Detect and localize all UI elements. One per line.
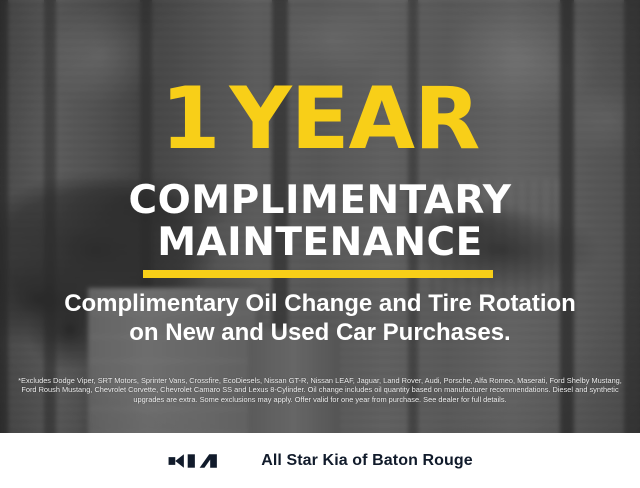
banner-footer: All Star Kia of Baton Rouge [0, 433, 640, 488]
headline-maintenance: MAINTENANCE [0, 222, 640, 264]
offer-subheading-line2: on New and Used Car Purchases. [24, 318, 616, 347]
disclaimer-text: *Excludes Dodge Viper, SRT Motors, Sprin… [14, 376, 626, 404]
offer-subheading-line1: Complimentary Oil Change and Tire Rotati… [24, 289, 616, 318]
banner-content: 1YEAR COMPLIMENTARY MAINTENANCE Complime… [0, 0, 640, 433]
yellow-divider-rule [143, 270, 493, 278]
headline-year-word: YEAR [230, 69, 480, 169]
kia-logo [167, 450, 239, 472]
headline-complimentary: COMPLIMENTARY [0, 180, 640, 222]
offer-subheading: Complimentary Oil Change and Tire Rotati… [24, 289, 616, 347]
headline-number: 1 [161, 69, 220, 169]
headline-one-year: 1YEAR [0, 76, 640, 162]
promo-banner: 1YEAR COMPLIMENTARY MAINTENANCE Complime… [0, 0, 640, 488]
dealer-name: All Star Kia of Baton Rouge [261, 452, 473, 470]
